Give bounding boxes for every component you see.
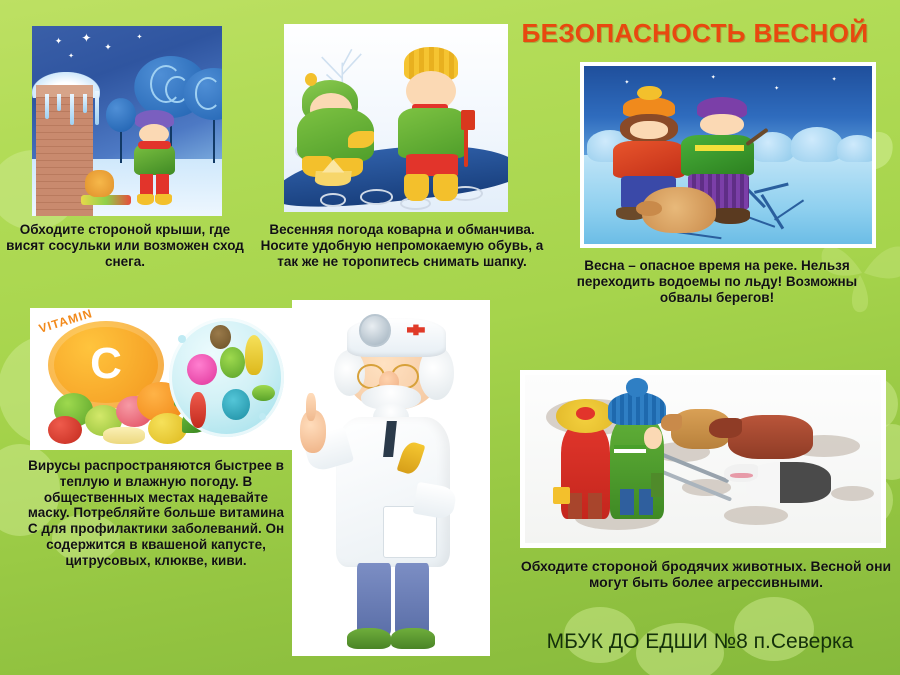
caption-viruses: Вирусы распространяются быстрее в теплую…: [22, 458, 290, 568]
image-card-viruses: VITAMIN C: [30, 308, 292, 450]
stray-dog-red: [728, 415, 813, 459]
image-card-weather: [284, 24, 508, 212]
image-card-icicles: ✦ ✦ ✦ ✦ ✦: [32, 26, 222, 216]
child-in-blue-hat: [610, 419, 663, 520]
image-card-stray-animals: [520, 370, 886, 548]
caption-ice: Весна – опасное время на реке. Нельзя пе…: [552, 258, 882, 305]
winter-girl-sled-dog-illustration: ✦ ✦ ✦ ✦ ✦: [32, 26, 222, 216]
caption-weather: Весенняя погода коварна и обманчива. Нос…: [252, 222, 552, 269]
red-cross-icon: [407, 321, 425, 339]
organization-footer: МБУК ДО ЕДШИ №8 п.Северка: [505, 630, 895, 654]
stray-dog-black-white: [746, 462, 831, 502]
germs-petri-dish: [169, 318, 284, 437]
two-children-paper-boat-stream-illustration: [284, 24, 508, 212]
vitamin-c-letter: C: [48, 342, 163, 386]
poster-canvas: БЕЗОПАСНОСТЬ ВЕСНОЙ ✦ ✦ ✦ ✦ ✦: [0, 0, 900, 675]
caption-stray-animals: Обходите стороной бродячих животных. Вес…: [512, 558, 900, 591]
child-in-red-coat: [561, 425, 611, 519]
children-facing-stray-dogs-illustration: [525, 375, 881, 543]
image-card-ice: ✦ ✦ ✦ ✦: [580, 62, 876, 248]
children-dog-cracking-ice-river-illustration: ✦ ✦ ✦ ✦: [584, 66, 872, 244]
image-card-doctor: [292, 300, 490, 656]
cartoon-elderly-doctor-pointing-illustration: [292, 300, 490, 656]
caption-icicles: Обходите стороной крыши, где висят сосул…: [0, 222, 250, 269]
vitamin-c-fruits-and-germs-petri-dish-illustration: VITAMIN C: [30, 308, 292, 450]
page-title: БЕЗОПАСНОСТЬ ВЕСНОЙ: [500, 18, 890, 49]
